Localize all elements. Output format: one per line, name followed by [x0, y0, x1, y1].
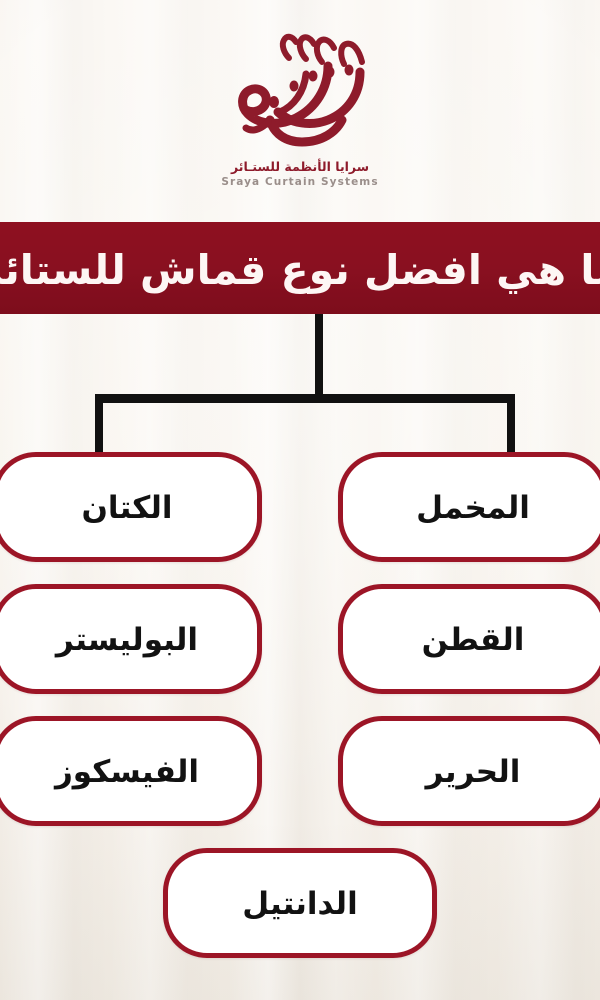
fabric-card-linen[interactable]: الكتان [0, 452, 262, 562]
fabric-card-polyester[interactable]: البوليستر [0, 584, 262, 694]
fabric-card-velvet[interactable]: المخمل [338, 452, 600, 562]
fabric-card-silk[interactable]: الحرير [338, 716, 600, 826]
brand-logo-block: سرايا الأنظمة للستـائر Sraya Curtain Sys… [0, 28, 600, 214]
connector-drop-right-branch [507, 399, 515, 455]
fabric-card-lace[interactable]: الدانتيل [163, 848, 437, 958]
page-canvas: سرايا الأنظمة للستـائر Sraya Curtain Sys… [0, 0, 600, 1000]
title-banner: ما هي افضل نوع قماش للستائر [0, 222, 600, 314]
fabric-card-label: الكتان [81, 493, 172, 524]
fabric-card-label: القطن [422, 625, 525, 656]
fabric-card-label: الدانتيل [242, 889, 357, 920]
banner-title-text: ما هي افضل نوع قماش للستائر [0, 250, 600, 291]
connector-drop-left-branch [95, 399, 103, 455]
fabric-card-label: البوليستر [56, 625, 198, 656]
fabric-card-label: الحرير [426, 757, 521, 788]
connector-stem-vertical [315, 314, 323, 400]
fabric-card-label: الفيسكوز [55, 757, 199, 788]
fabric-card-cotton[interactable]: القطن [338, 584, 600, 694]
fabric-card-label: المخمل [416, 493, 530, 524]
brand-name-arabic: سرايا الأنظمة للستـائر [231, 160, 369, 174]
fabric-card-viscose[interactable]: الفيسكوز [0, 716, 262, 826]
brand-name-english: Sraya Curtain Systems [221, 177, 378, 189]
connector-horizontal-bar [95, 394, 515, 403]
sraya-calligraphy-logo-icon [210, 28, 390, 158]
